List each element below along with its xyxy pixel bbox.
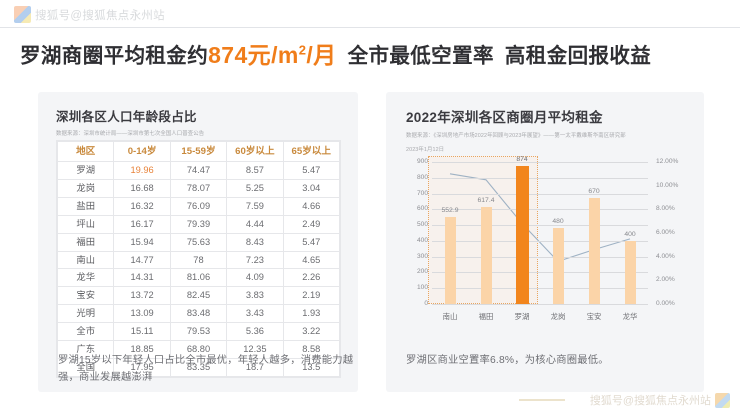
cell-value-4: 2.19: [283, 287, 339, 305]
cell-value-2: 74.47: [170, 162, 226, 180]
x-axis-label: 龙岗: [538, 311, 578, 322]
y2-axis-tick: 10.00%: [656, 182, 678, 189]
x-axis-label: 南山: [430, 311, 470, 322]
bar-value-label: 617.4: [466, 197, 506, 204]
sohu-logo-icon: [14, 6, 31, 23]
watermark-bottom-text: 搜狐号@搜狐焦点永州站: [590, 392, 711, 408]
headline-prefix: 罗湖商圈平均租金约: [20, 45, 208, 68]
right-panel-header: 2022年深圳各区商圈月平均租金 数据来源：《深圳房地产市场2022年回顾与20…: [406, 106, 626, 154]
col-header-0-14: 0-14岁: [114, 142, 170, 162]
cell-value-2: 78.07: [170, 179, 226, 197]
gridline: [432, 257, 648, 258]
cell-value-1: 16.17: [114, 215, 170, 233]
gridline: [432, 288, 648, 289]
cell-region: 龙华: [58, 269, 114, 287]
rent-chart: 01002003004005006007008009000.00%2.00%4.…: [400, 154, 692, 326]
y2-axis-tick: 2.00%: [656, 276, 675, 283]
cell-value-2: 81.06: [170, 269, 226, 287]
right-caption: 罗湖区商业空置率6.8%，为核心商圈最低。: [406, 352, 706, 369]
table-body: 罗湖19.9674.478.575.47龙岗16.6878.075.253.04…: [58, 162, 340, 377]
cell-value-1: 16.32: [114, 197, 170, 215]
y-axis-tick: 200: [401, 268, 428, 275]
left-panel-title: 深圳各区人口年龄段占比: [56, 106, 204, 125]
table-row: 龙岗16.6878.075.253.04: [58, 179, 340, 197]
table-row: 全市15.1179.535.363.22: [58, 323, 340, 341]
table-row: 龙华14.3181.064.092.26: [58, 269, 340, 287]
cell-value-3: 4.09: [227, 269, 283, 287]
cell-value-2: 82.45: [170, 287, 226, 305]
cell-value-3: 8.43: [227, 233, 283, 251]
right-panel-source-line1: 数据来源：《深圳房地产市场2022年回顾与2023年展望》——第一太平戴维斯华南…: [406, 132, 626, 140]
table-row: 光明13.0983.483.431.93: [58, 305, 340, 323]
y-axis-tick: 100: [401, 284, 428, 291]
cell-value-2: 75.63: [170, 233, 226, 251]
table-header-row: 地区 0-14岁 15-59岁 60岁以上 65岁以上: [58, 142, 340, 162]
watermark-bottom: 搜狐号@搜狐焦点永州站: [590, 392, 730, 408]
col-header-65plus: 65岁以上: [283, 142, 339, 162]
x-axis-label: 宝安: [574, 311, 614, 322]
cell-value-2: 79.39: [170, 215, 226, 233]
table-head: 地区 0-14岁 15-59岁 60岁以上 65岁以上: [58, 142, 340, 162]
headline-accent-tail: /月: [306, 42, 336, 68]
cell-region: 盐田: [58, 197, 114, 215]
y-axis-tick: 300: [401, 253, 428, 260]
y-axis-tick: 900: [401, 158, 428, 165]
table-row: 罗湖19.9674.478.575.47: [58, 162, 340, 180]
cell-region: 全市: [58, 323, 114, 341]
cell-value-3: 7.23: [227, 251, 283, 269]
bar-value-label: 552.9: [430, 207, 470, 214]
age-distribution-table: 地区 0-14岁 15-59岁 60岁以上 65岁以上 罗湖19.9674.47…: [57, 141, 340, 377]
gridline: [432, 272, 648, 273]
chart-bar: [625, 241, 636, 304]
bar-value-label: 480: [538, 218, 578, 225]
col-header-15-59: 15-59岁: [170, 142, 226, 162]
cell-value-3: 7.59: [227, 197, 283, 215]
cell-value-1: 19.96: [114, 162, 170, 180]
slide-page: 搜狐号@搜狐焦点永州站 罗湖商圈平均租金约874元/m2/月全市最低空置率高租金…: [0, 0, 740, 414]
headline-accent-main: 874元/m: [208, 42, 299, 68]
cell-value-4: 3.04: [283, 179, 339, 197]
right-panel-source-line2: 2023年1月12日: [406, 146, 626, 154]
cell-value-4: 1.93: [283, 305, 339, 323]
chart-plot-area: 01002003004005006007008009000.00%2.00%4.…: [432, 162, 648, 304]
cell-value-3: 3.83: [227, 287, 283, 305]
right-panel: 2022年深圳各区商圈月平均租金 数据来源：《深圳房地产市场2022年回顾与20…: [386, 92, 704, 392]
y2-axis-tick: 6.00%: [656, 229, 675, 236]
gridline: [432, 178, 648, 179]
x-axis-label: 龙华: [610, 311, 650, 322]
page-title: 罗湖商圈平均租金约874元/m2/月全市最低空置率高租金回报收益: [20, 36, 651, 71]
chart-bar: [445, 217, 456, 304]
left-panel-header: 深圳各区人口年龄段占比 数据来源：深圳市统计局——深圳市第七次全国人口普查公告: [56, 106, 204, 138]
y-axis-tick: 700: [401, 190, 428, 197]
cell-value-3: 3.43: [227, 305, 283, 323]
y-axis-tick: 800: [401, 174, 428, 181]
y-axis-tick: 600: [401, 205, 428, 212]
cell-region: 宝安: [58, 287, 114, 305]
headline-accent: 874元/m2/月: [208, 42, 336, 68]
sohu-logo-icon-bottom: [715, 393, 730, 408]
age-table-wrapper: 地区 0-14岁 15-59岁 60岁以上 65岁以上 罗湖19.9674.47…: [56, 140, 341, 378]
cell-value-4: 4.65: [283, 251, 339, 269]
y2-axis-tick: 4.00%: [656, 253, 675, 260]
gridline: [432, 241, 648, 242]
cell-value-4: 5.47: [283, 233, 339, 251]
cell-region: 龙岗: [58, 179, 114, 197]
bar-value-label: 400: [610, 231, 650, 238]
bar-value-label: 874: [502, 156, 542, 163]
cell-value-3: 4.44: [227, 215, 283, 233]
cell-region: 南山: [58, 251, 114, 269]
right-panel-title: 2022年深圳各区商圈月平均租金: [406, 106, 626, 126]
y-axis-tick: 0: [401, 300, 428, 307]
chart-bar: [589, 198, 600, 304]
table-row: 南山14.77787.234.65: [58, 251, 340, 269]
cell-value-2: 78: [170, 251, 226, 269]
headline-rest-2: 高租金回报收益: [505, 45, 651, 68]
y2-axis-tick: 12.00%: [656, 158, 678, 165]
bar-value-label: 670: [574, 188, 614, 195]
cell-value-1: 15.94: [114, 233, 170, 251]
chart-bar: [481, 207, 492, 304]
cell-value-4: 4.66: [283, 197, 339, 215]
cell-value-1: 13.72: [114, 287, 170, 305]
cell-value-4: 3.22: [283, 323, 339, 341]
gridline: [432, 304, 648, 305]
table-row: 福田15.9475.638.435.47: [58, 233, 340, 251]
cell-region: 光明: [58, 305, 114, 323]
cell-value-2: 76.09: [170, 197, 226, 215]
cell-value-1: 13.09: [114, 305, 170, 323]
headline-rest-1: 全市最低空置率: [348, 45, 494, 68]
cell-value-2: 83.48: [170, 305, 226, 323]
chart-bar: [516, 166, 529, 304]
title-divider: [0, 27, 740, 28]
watermark-rule: [519, 399, 565, 401]
col-header-60plus: 60岁以上: [227, 142, 283, 162]
cell-region: 坪山: [58, 215, 114, 233]
table-row: 宝安13.7282.453.832.19: [58, 287, 340, 305]
col-header-region: 地区: [58, 142, 114, 162]
x-axis-label: 福田: [466, 311, 506, 322]
cell-value-4: 5.47: [283, 162, 339, 180]
cell-value-1: 16.68: [114, 179, 170, 197]
y-axis-tick: 500: [401, 221, 428, 228]
table-row: 坪山16.1779.394.442.49: [58, 215, 340, 233]
cell-value-3: 5.25: [227, 179, 283, 197]
left-caption: 罗湖15岁以下年轻人口占比全市最优，年轻人越多，消费能力越强，商业发展越澎湃: [58, 352, 358, 386]
chart-bar: [553, 228, 564, 304]
cell-value-4: 2.49: [283, 215, 339, 233]
cell-value-1: 14.77: [114, 251, 170, 269]
left-panel: 深圳各区人口年龄段占比 数据来源：深圳市统计局——深圳市第七次全国人口普查公告 …: [38, 92, 358, 392]
left-panel-source: 数据来源：深圳市统计局——深圳市第七次全国人口普查公告: [56, 130, 204, 138]
y-axis-tick: 400: [401, 237, 428, 244]
cell-value-3: 5.36: [227, 323, 283, 341]
cell-value-4: 2.26: [283, 269, 339, 287]
table-row: 盐田16.3276.097.594.66: [58, 197, 340, 215]
cell-value-1: 14.31: [114, 269, 170, 287]
gridline: [432, 194, 648, 195]
y2-axis-tick: 0.00%: [656, 300, 675, 307]
watermark-top: 搜狐号@搜狐焦点永州站: [14, 6, 165, 23]
cell-value-1: 15.11: [114, 323, 170, 341]
watermark-top-text: 搜狐号@搜狐焦点永州站: [35, 7, 165, 23]
cell-region: 福田: [58, 233, 114, 251]
x-axis-label: 罗湖: [502, 311, 542, 322]
cell-value-2: 79.53: [170, 323, 226, 341]
cell-value-3: 8.57: [227, 162, 283, 180]
y2-axis-tick: 8.00%: [656, 205, 675, 212]
cell-region: 罗湖: [58, 162, 114, 180]
